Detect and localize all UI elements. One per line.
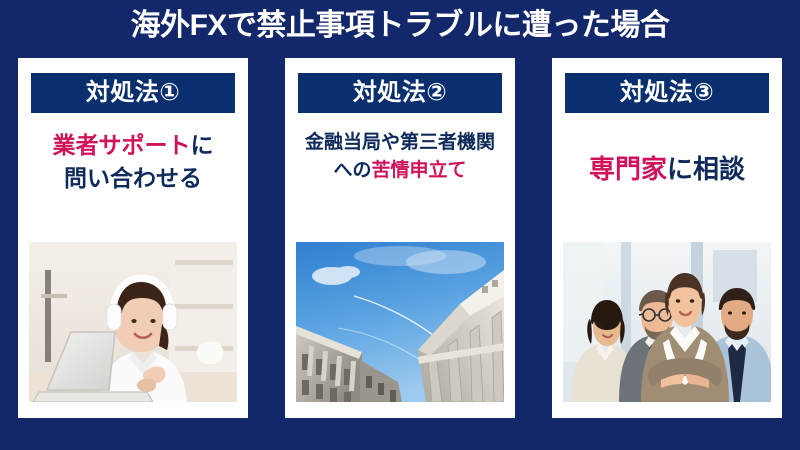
card-header-3: 対処法③	[565, 73, 769, 113]
four-business-professionals-standing-image	[563, 242, 771, 402]
card-header-2: 対処法②	[298, 73, 502, 113]
card-item-2: 対処法② 金融当局や第三者機関 への苦情申立て	[285, 58, 515, 418]
card-caption-1-highlight: 業者サポート	[53, 132, 191, 158]
card-caption-2: 金融当局や第三者機関 への苦情申立て	[298, 129, 502, 184]
card-photo-1	[29, 242, 237, 402]
card-caption-3-highlight: 専門家	[589, 154, 667, 184]
card-caption-3-plain-a: に相談	[667, 154, 745, 184]
classical-institution-buildings-under-blue-sky-image	[296, 242, 504, 402]
card-caption-1-plain-b: 問い合わせる	[64, 165, 202, 191]
woman-with-headset-at-laptop-image	[29, 242, 237, 402]
card-photo-2	[296, 242, 504, 402]
card-item-1: 対処法① 業者サポートに 問い合わせる	[18, 58, 248, 418]
card-caption-3: 専門家に相談	[565, 151, 769, 189]
card-list: 対処法① 業者サポートに 問い合わせる	[18, 58, 782, 418]
card-caption-2-plain-a: 金融当局や第三者機関	[305, 132, 495, 153]
card-caption-1: 業者サポートに 問い合わせる	[31, 129, 235, 196]
card-photo-3	[563, 242, 771, 402]
card-caption-1-plain-a: に	[191, 132, 214, 158]
card-caption-2-highlight: 苦情申立て	[372, 160, 467, 181]
card-header-1: 対処法①	[31, 73, 235, 113]
page-title: 海外FXで禁止事項トラブルに遭った場合	[0, 8, 800, 44]
card-item-3: 対処法③ 専門家に相談	[552, 58, 782, 418]
poster-root: 海外FXで禁止事項トラブルに遭った場合 対処法① 業者サポートに 問い合わせる	[0, 0, 800, 450]
card-caption-2-plain-b: への	[333, 160, 371, 181]
